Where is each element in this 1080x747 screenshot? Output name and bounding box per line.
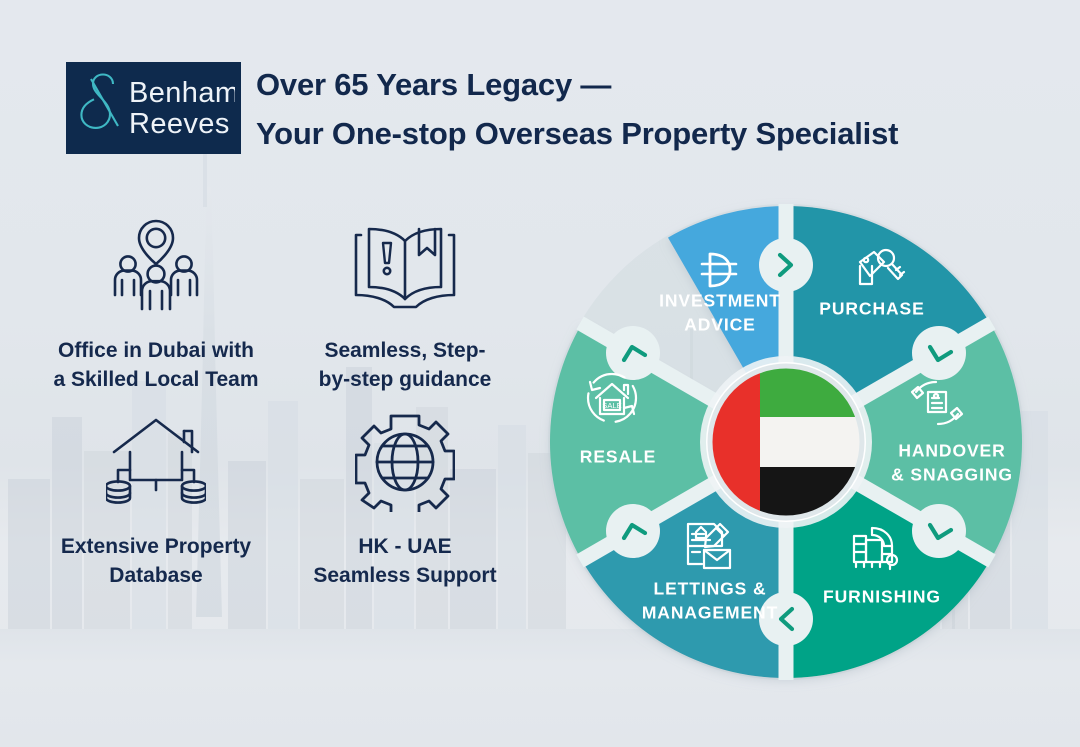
feature-label-line-2: Seamless Support [313, 561, 496, 590]
page-title: Over 65 Years Legacy — Your One-stop Ove… [256, 60, 898, 158]
connector-chevron-up-left[interactable] [606, 504, 660, 558]
feature-label-line-1: Seamless, Step- [319, 336, 492, 365]
ampersand-icon [81, 75, 118, 128]
svg-text:SALE: SALE [602, 401, 621, 410]
feature-label-line-2: Database [61, 561, 251, 590]
feature-label: Office in Dubai with a Skilled Local Tea… [53, 336, 258, 394]
feature-hk-uae-support: HK - UAE Seamless Support [290, 408, 520, 604]
connector-chevron-up-right[interactable] [606, 326, 660, 380]
feature-label: HK - UAE Seamless Support [313, 532, 496, 590]
feature-label: Seamless, Step- by-step guidance [319, 336, 492, 394]
logo-artwork: Benham Reeves [73, 70, 235, 146]
connector-chevron-down-right[interactable] [912, 326, 966, 380]
segment-label-handover-line2: & SNAGGING [891, 465, 1013, 485]
segment-label-purchase: PURCHASE [819, 299, 924, 319]
segment-label-handover-line1: HANDOVER [898, 441, 1005, 461]
segment-label-resale: RESALE [580, 447, 656, 467]
feature-label: Extensive Property Database [61, 532, 251, 590]
feature-step-by-step-guidance: Seamless, Step- by-step guidance [290, 212, 520, 408]
feature-property-database: Extensive Property Database [22, 408, 290, 604]
connector-chevron-down-left[interactable] [912, 504, 966, 558]
location-pin-people-icon [106, 212, 206, 320]
feature-label-line-2: by-step guidance [319, 365, 492, 394]
feature-label-line-1: HK - UAE [313, 532, 496, 561]
segment-label-investment-advice-line1: INVESTMENT [659, 291, 781, 311]
house-database-icon [106, 408, 206, 516]
connector-chevron-right[interactable] [759, 238, 813, 292]
logo-text-benham: Benham [129, 77, 235, 109]
headline-line-1: Over 65 Years Legacy — [256, 60, 898, 109]
segment-label-investment-advice-line2: ADVICE [684, 315, 756, 335]
globe-gear-icon [355, 408, 455, 516]
segment-label-lettings-line1: LETTINGS & [653, 579, 766, 599]
headline-line-2: Your One-stop Overseas Property Speciali… [256, 109, 898, 158]
feature-office-in-dubai: Office in Dubai with a Skilled Local Tea… [22, 212, 290, 408]
feature-label-line-2: a Skilled Local Team [53, 365, 258, 394]
feature-grid: Office in Dubai with a Skilled Local Tea… [22, 212, 542, 604]
feature-label-line-1: Extensive Property [61, 532, 251, 561]
open-book-exclamation-icon [353, 212, 457, 320]
segment-label-lettings-line2: MANAGEMENT [642, 603, 778, 623]
benham-reeves-logo: Benham Reeves [66, 62, 241, 154]
logo-text-reeves: Reeves [129, 108, 230, 140]
segment-label-furnishing: FURNISHING [823, 587, 941, 607]
property-journey-wheel: SALE INVESTMENT ADVICE PURCHASE HANDOVER… [534, 190, 1038, 694]
uae-flag-center [700, 356, 872, 528]
feature-label-line-1: Office in Dubai with [53, 336, 258, 365]
